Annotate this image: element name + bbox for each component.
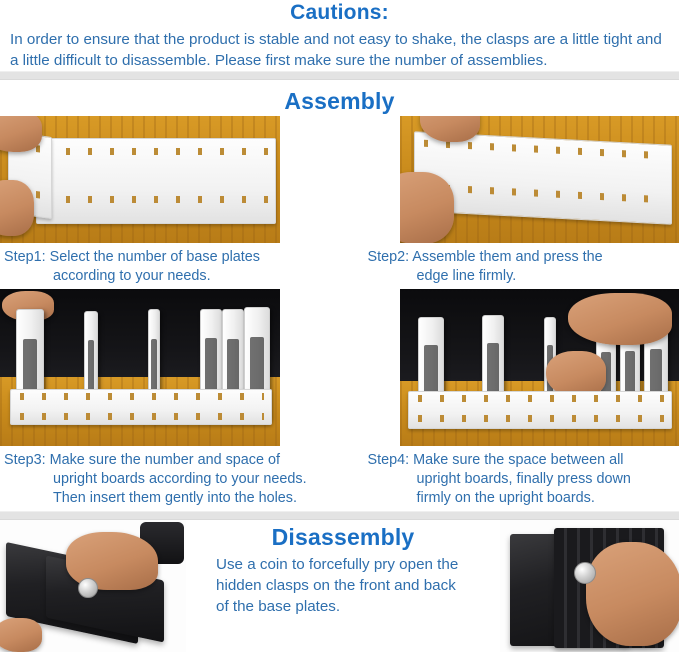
disassembly-line2: hidden clasps on the front and back bbox=[216, 577, 456, 594]
step2-line1: Step2: Assemble them and press the bbox=[368, 249, 603, 265]
section-divider-bottom bbox=[0, 511, 679, 520]
step4-photo bbox=[400, 289, 679, 446]
cautions-section: Cautions: In order to ensure that the pr… bbox=[0, 0, 679, 71]
cautions-title: Cautions: bbox=[0, 0, 679, 25]
disassembly-line1: Use a coin to forcefully pry open the bbox=[216, 556, 458, 573]
disassembly-text-block: Disassembly Use a coin to forcefully pry… bbox=[186, 520, 500, 617]
cautions-body: In order to ensure that the product is s… bbox=[0, 25, 679, 71]
step1-caption: Step1: Select the number of base plates … bbox=[0, 243, 340, 289]
disassembly-line3: of the base plates. bbox=[216, 598, 340, 615]
step3-line2: upright boards according to your needs. bbox=[4, 470, 334, 489]
assembly-step-3: Step3: Make sure the number and space of… bbox=[0, 289, 340, 511]
instruction-sheet: Cautions: In order to ensure that the pr… bbox=[0, 0, 679, 672]
step3-line3: Then insert them gently into the holes. bbox=[4, 489, 334, 508]
step2-photo bbox=[400, 116, 679, 243]
step4-caption: Step4: Make sure the space between all u… bbox=[340, 446, 679, 511]
assembly-step-4: Step4: Make sure the space between all u… bbox=[340, 289, 679, 511]
step3-photo bbox=[0, 289, 280, 446]
step1-photo bbox=[0, 116, 280, 243]
section-divider-top bbox=[0, 71, 679, 80]
step1-line1: Step1: Select the number of base plates bbox=[4, 249, 260, 265]
step4-line1: Step4: Make sure the space between all bbox=[368, 452, 624, 468]
disassembly-section: Disassembly Use a coin to forcefully pry… bbox=[0, 520, 679, 652]
step2-caption: Step2: Assemble them and press the edge … bbox=[340, 243, 679, 289]
disassembly-photo-left bbox=[0, 520, 186, 652]
step3-line1: Step3: Make sure the number and space of bbox=[4, 452, 280, 468]
assembly-step-2: Step2: Assemble them and press the edge … bbox=[340, 116, 679, 289]
disassembly-photo-right bbox=[500, 520, 679, 652]
step4-line2: upright boards, finally press down bbox=[368, 470, 674, 489]
assembly-step-1: Step1: Select the number of base plates … bbox=[0, 116, 340, 289]
step4-line3: firmly on the upright boards. bbox=[368, 489, 674, 508]
assembly-title: Assembly bbox=[0, 86, 679, 116]
step2-line2: edge line firmly. bbox=[368, 267, 674, 286]
assembly-section: Assembly bbox=[0, 80, 679, 511]
assembly-grid: Step1: Select the number of base plates … bbox=[0, 116, 679, 511]
step3-caption: Step3: Make sure the number and space of… bbox=[0, 446, 340, 511]
disassembly-title: Disassembly bbox=[186, 522, 500, 552]
disassembly-body: Use a coin to forcefully pry open the hi… bbox=[186, 552, 500, 617]
step1-line2: according to your needs. bbox=[4, 267, 334, 286]
